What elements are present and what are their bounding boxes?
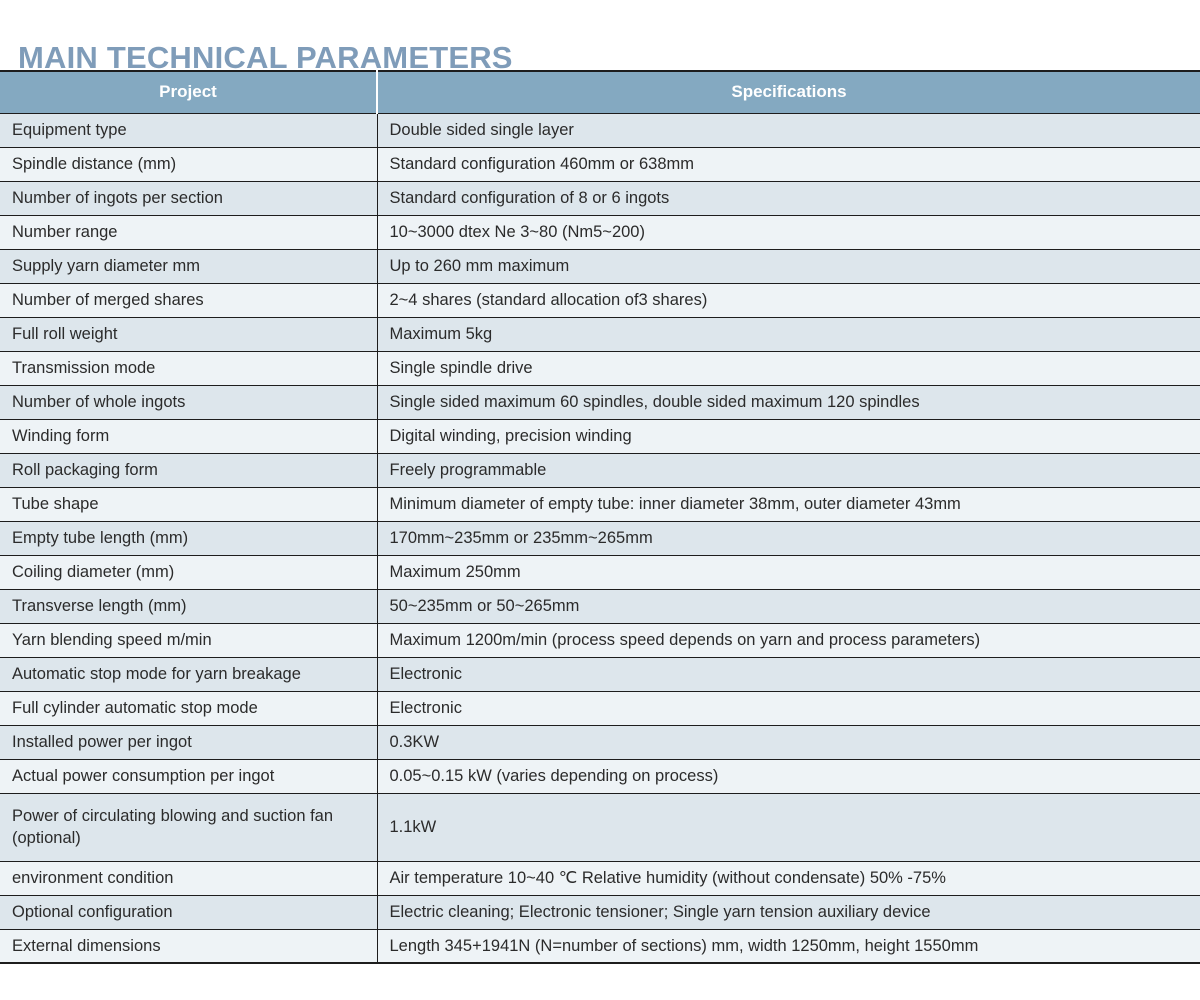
cell-project: Equipment type (0, 113, 377, 147)
cell-specification: Standard configuration of 8 or 6 ingots (377, 181, 1200, 215)
cell-specification: 50~235mm or 50~265mm (377, 589, 1200, 623)
table-body: Equipment typeDouble sided single layerS… (0, 113, 1200, 963)
cell-specification: Minimum diameter of empty tube: inner di… (377, 487, 1200, 521)
cell-specification: Single spindle drive (377, 351, 1200, 385)
cell-specification: Standard configuration 460mm or 638mm (377, 147, 1200, 181)
cell-project: Winding form (0, 419, 377, 453)
table-row: Actual power consumption per ingot0.05~0… (0, 759, 1200, 793)
cell-specification: 1.1kW (377, 793, 1200, 861)
table-row: Number of ingots per sectionStandard con… (0, 181, 1200, 215)
cell-specification: 170mm~235mm or 235mm~265mm (377, 521, 1200, 555)
column-header-specifications: Specifications (377, 71, 1200, 113)
table-row: Equipment typeDouble sided single layer (0, 113, 1200, 147)
cell-project: Coiling diameter (mm) (0, 555, 377, 589)
cell-project: Automatic stop mode for yarn breakage (0, 657, 377, 691)
table-row: Full cylinder automatic stop modeElectro… (0, 691, 1200, 725)
cell-specification: Maximum 5kg (377, 317, 1200, 351)
technical-parameters-table: Project Specifications Equipment typeDou… (0, 70, 1200, 964)
cell-project: Optional configuration (0, 895, 377, 929)
cell-specification: 10~3000 dtex Ne 3~80 (Nm5~200) (377, 215, 1200, 249)
cell-specification: Electric cleaning; Electronic tensioner;… (377, 895, 1200, 929)
cell-project: Number of ingots per section (0, 181, 377, 215)
cell-project: Number of merged shares (0, 283, 377, 317)
cell-specification: Maximum 250mm (377, 555, 1200, 589)
table-row: Installed power per ingot0.3KW (0, 725, 1200, 759)
cell-project: Yarn blending speed m/min (0, 623, 377, 657)
table-row: Transmission modeSingle spindle drive (0, 351, 1200, 385)
cell-project: External dimensions (0, 929, 377, 963)
table-row: Power of circulating blowing and suction… (0, 793, 1200, 861)
cell-project: Roll packaging form (0, 453, 377, 487)
cell-project: Installed power per ingot (0, 725, 377, 759)
cell-project: Number of whole ingots (0, 385, 377, 419)
table-row: Number range10~3000 dtex Ne 3~80 (Nm5~20… (0, 215, 1200, 249)
cell-specification: 0.3KW (377, 725, 1200, 759)
cell-project: Full roll weight (0, 317, 377, 351)
cell-project: Full cylinder automatic stop mode (0, 691, 377, 725)
table-row: Number of whole ingotsSingle sided maxim… (0, 385, 1200, 419)
table-row: Yarn blending speed m/minMaximum 1200m/m… (0, 623, 1200, 657)
table-row: Tube shapeMinimum diameter of empty tube… (0, 487, 1200, 521)
cell-specification: Freely programmable (377, 453, 1200, 487)
table-row: Coiling diameter (mm)Maximum 250mm (0, 555, 1200, 589)
table-row: Supply yarn diameter mmUp to 260 mm maxi… (0, 249, 1200, 283)
cell-project: Empty tube length (mm) (0, 521, 377, 555)
cell-specification: Length 345+1941N (N=number of sections) … (377, 929, 1200, 963)
cell-project: Power of circulating blowing and suction… (0, 793, 377, 861)
cell-project: Tube shape (0, 487, 377, 521)
cell-specification: Maximum 1200m/min (process speed depends… (377, 623, 1200, 657)
cell-project: Supply yarn diameter mm (0, 249, 377, 283)
table-row: Transverse length (mm)50~235mm or 50~265… (0, 589, 1200, 623)
cell-specification: 0.05~0.15 kW (varies depending on proces… (377, 759, 1200, 793)
table-row: Roll packaging formFreely programmable (0, 453, 1200, 487)
column-header-project: Project (0, 71, 377, 113)
cell-project: Transmission mode (0, 351, 377, 385)
table-row: Spindle distance (mm)Standard configurat… (0, 147, 1200, 181)
table-header: Project Specifications (0, 71, 1200, 113)
table-row: External dimensionsLength 345+1941N (N=n… (0, 929, 1200, 963)
table-row: Optional configurationElectric cleaning;… (0, 895, 1200, 929)
table-row: Winding formDigital winding, precision w… (0, 419, 1200, 453)
document-page: MAIN TECHNICAL PARAMETERS Project Specif… (0, 0, 1200, 1000)
table-row: environment conditionAir temperature 10~… (0, 861, 1200, 895)
table-row: Number of merged shares2~4 shares (stand… (0, 283, 1200, 317)
cell-specification: Electronic (377, 691, 1200, 725)
spec-table-container: Project Specifications Equipment typeDou… (0, 70, 1200, 964)
cell-specification: Air temperature 10~40 ℃ Relative humidit… (377, 861, 1200, 895)
table-header-row: Project Specifications (0, 71, 1200, 113)
cell-specification: Single sided maximum 60 spindles, double… (377, 385, 1200, 419)
cell-specification: 2~4 shares (standard allocation of3 shar… (377, 283, 1200, 317)
cell-project: Transverse length (mm) (0, 589, 377, 623)
cell-specification: Double sided single layer (377, 113, 1200, 147)
cell-specification: Electronic (377, 657, 1200, 691)
table-row: Automatic stop mode for yarn breakageEle… (0, 657, 1200, 691)
cell-project: Spindle distance (mm) (0, 147, 377, 181)
cell-project: Number range (0, 215, 377, 249)
table-row: Full roll weightMaximum 5kg (0, 317, 1200, 351)
cell-specification: Digital winding, precision winding (377, 419, 1200, 453)
cell-specification: Up to 260 mm maximum (377, 249, 1200, 283)
cell-project: Actual power consumption per ingot (0, 759, 377, 793)
cell-project: environment condition (0, 861, 377, 895)
table-row: Empty tube length (mm)170mm~235mm or 235… (0, 521, 1200, 555)
